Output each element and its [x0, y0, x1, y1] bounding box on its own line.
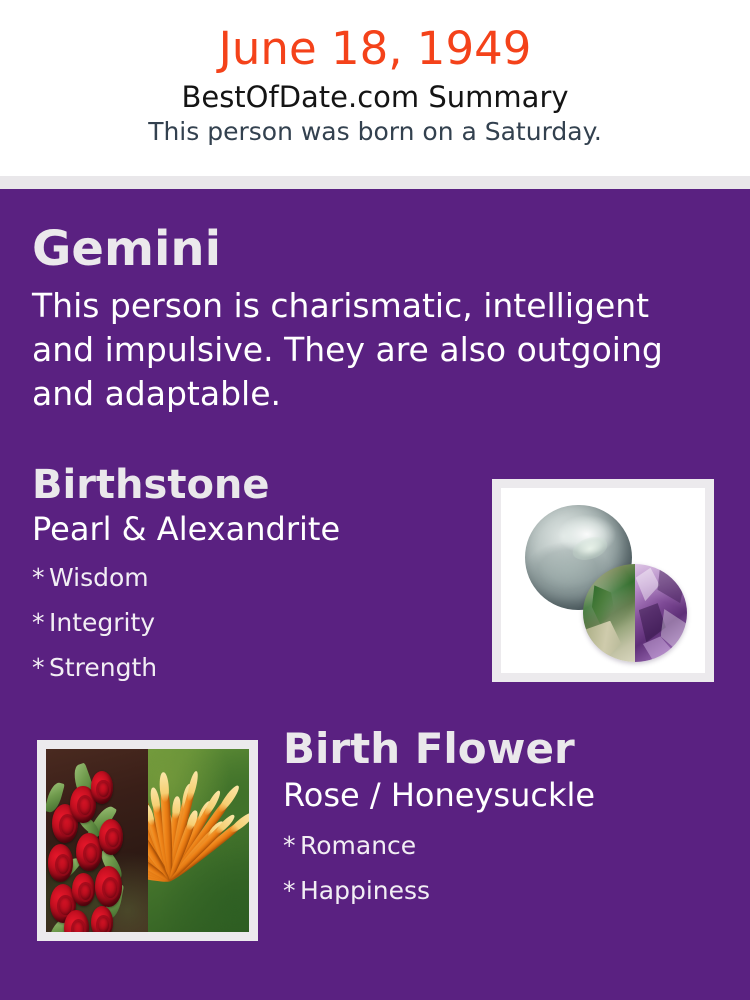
birthstone-image: [492, 479, 714, 682]
birth-flower-trait-list: *Romance *Happiness: [283, 814, 733, 913]
birthstone-title: Birthstone: [32, 461, 472, 509]
birth-flower-title: Birth Flower: [283, 723, 733, 775]
birthstone-trait-list: *Wisdom *Integrity *Strength: [32, 548, 472, 690]
birthstone-subtitle: Pearl & Alexandrite: [32, 509, 472, 548]
born-weekday-label: This person was born on a Saturday.: [0, 114, 750, 147]
birthstone-text-block: Birthstone Pearl & Alexandrite *Wisdom *…: [32, 461, 472, 690]
gem-facet: [636, 568, 660, 601]
bullet-star-icon: *: [283, 868, 300, 913]
content-panel: Gemini This person is charismatic, intel…: [0, 189, 750, 1000]
roses-photo-half: [46, 749, 148, 932]
header-divider: [0, 176, 750, 189]
birthstone-image-inner: [501, 488, 705, 673]
header: June 18, 1949 BestOfDate.com Summary Thi…: [0, 0, 750, 176]
birth-flower-trait-label: Romance: [300, 831, 416, 860]
zodiac-description: This person is charismatic, intelligent …: [32, 276, 697, 416]
rose-bloom: [64, 910, 88, 932]
list-item: *Wisdom: [32, 555, 472, 600]
gem-facet: [657, 564, 686, 603]
alexandrite-rough-half: [583, 564, 635, 662]
rose-bloom: [76, 833, 101, 871]
rose-bloom: [48, 844, 73, 882]
zodiac-sign-name: Gemini: [32, 222, 712, 276]
list-item: *Happiness: [283, 868, 733, 913]
birthstone-trait-label: Strength: [49, 653, 157, 682]
alexandrite-graphic: [583, 564, 687, 662]
rose-bloom: [91, 906, 113, 932]
alexandrite-faceted-half: [635, 564, 687, 662]
birth-flower-trait-label: Happiness: [300, 876, 430, 905]
rose-bloom: [95, 866, 122, 907]
birth-flower-image: [37, 740, 258, 941]
birthstone-trait-label: Wisdom: [49, 563, 149, 592]
rose-bloom: [99, 819, 123, 855]
honeysuckle-photo-half: [148, 749, 250, 932]
birth-flower-text-block: Birth Flower Rose / Honeysuckle *Romance…: [283, 723, 733, 913]
rose-bloom: [72, 873, 94, 906]
rose-bloom: [91, 771, 113, 804]
list-item: *Integrity: [32, 600, 472, 645]
list-item: *Strength: [32, 645, 472, 690]
bullet-star-icon: *: [32, 645, 49, 690]
birth-flower-image-inner: [46, 749, 249, 932]
birth-flower-subtitle: Rose / Honeysuckle: [283, 775, 733, 814]
bullet-star-icon: *: [32, 555, 49, 600]
page-title: June 18, 1949: [0, 0, 750, 75]
list-item: *Romance: [283, 823, 733, 868]
zodiac-section: Gemini This person is charismatic, intel…: [32, 222, 712, 416]
bullet-star-icon: *: [32, 600, 49, 645]
site-summary-label: BestOfDate.com Summary: [0, 75, 750, 114]
date-summary-card: June 18, 1949 BestOfDate.com Summary Thi…: [0, 0, 750, 1000]
bullet-star-icon: *: [283, 823, 300, 868]
birthstone-trait-label: Integrity: [49, 608, 155, 637]
